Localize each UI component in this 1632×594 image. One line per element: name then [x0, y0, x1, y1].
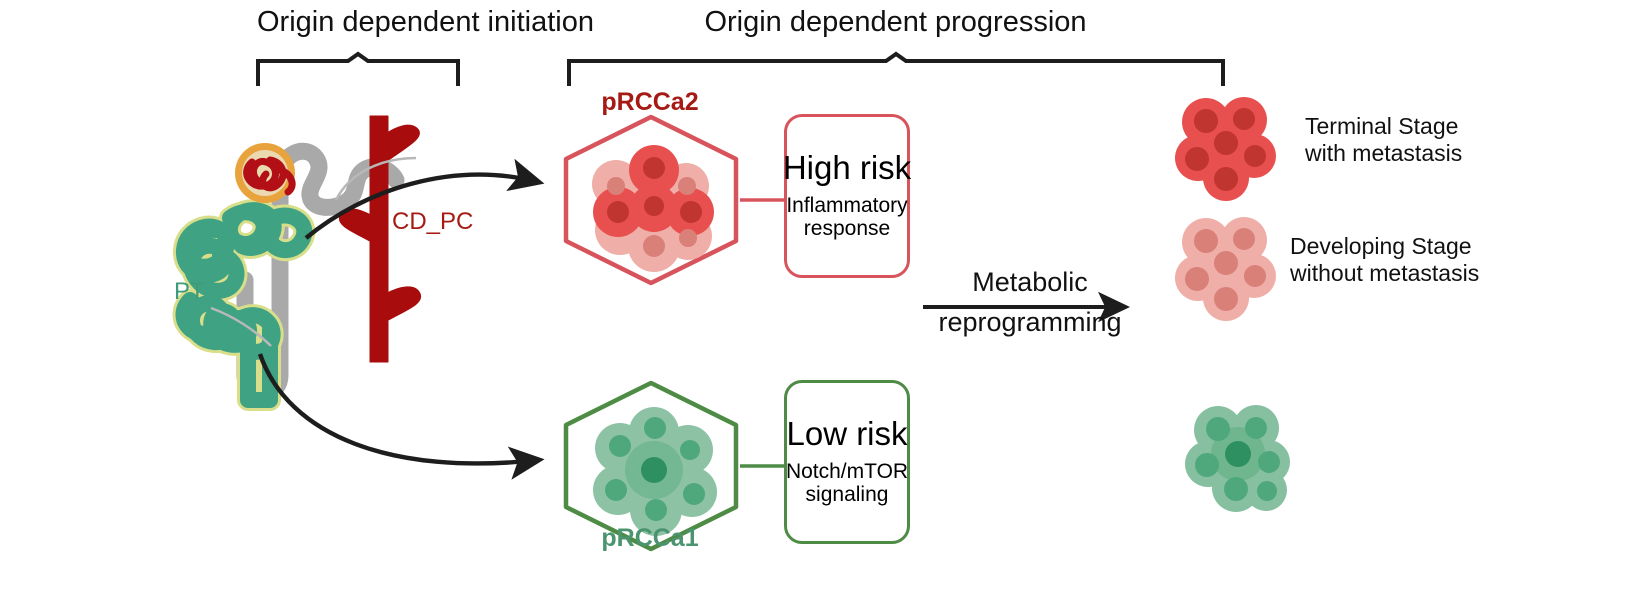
connector-prcca2: [740, 196, 788, 204]
connector-prcca1: [740, 462, 788, 470]
risk-box-prcca2: High risk Inflammatory response: [784, 114, 910, 278]
brace-progression: [566, 52, 1226, 88]
outcome-cluster-developing: [1168, 208, 1288, 320]
hexagon-prcca2: [558, 112, 744, 288]
outcome-cluster-terminal: [1168, 88, 1288, 200]
hex-tag-prcca1: pRCCa1: [560, 524, 740, 553]
transition-label-line2: reprogramming: [925, 308, 1135, 337]
risk-title-prcca2: High risk: [783, 151, 911, 186]
brace-label-initiation: Origin dependent initiation: [257, 6, 458, 39]
transition-label-line1: Metabolic: [925, 268, 1135, 297]
figure-canvas: Origin dependent initiation Origin depen…: [0, 0, 1632, 594]
outcome-label-terminal-line2: with metastasis: [1305, 140, 1462, 167]
outcome-label-developing-line2: without metastasis: [1290, 260, 1479, 287]
nephron-label-pt: PT: [174, 278, 205, 306]
arrow-to-prcca1: [252, 348, 572, 488]
risk-subtitle-line2-prcca1: signaling: [806, 483, 889, 507]
risk-subtitle-line1-prcca1: Notch/mTOR: [786, 460, 908, 484]
outcome-label-terminal-line1: Terminal Stage: [1305, 113, 1462, 140]
outcome-label-developing-line1: Developing Stage: [1290, 233, 1479, 260]
outcome-cluster-low-risk: [1180, 398, 1300, 510]
arrow-to-prcca2: [300, 140, 570, 250]
risk-subtitle-line2-prcca2: response: [804, 217, 890, 241]
risk-title-prcca1: Low risk: [786, 417, 907, 452]
risk-box-prcca1: Low risk Notch/mTOR signaling: [784, 380, 910, 544]
risk-subtitle-line1-prcca2: Inflammatory: [786, 194, 907, 218]
brace-label-progression: Origin dependent progression: [568, 6, 1223, 39]
brace-initiation: [255, 52, 461, 88]
glomerulus: [235, 143, 295, 203]
